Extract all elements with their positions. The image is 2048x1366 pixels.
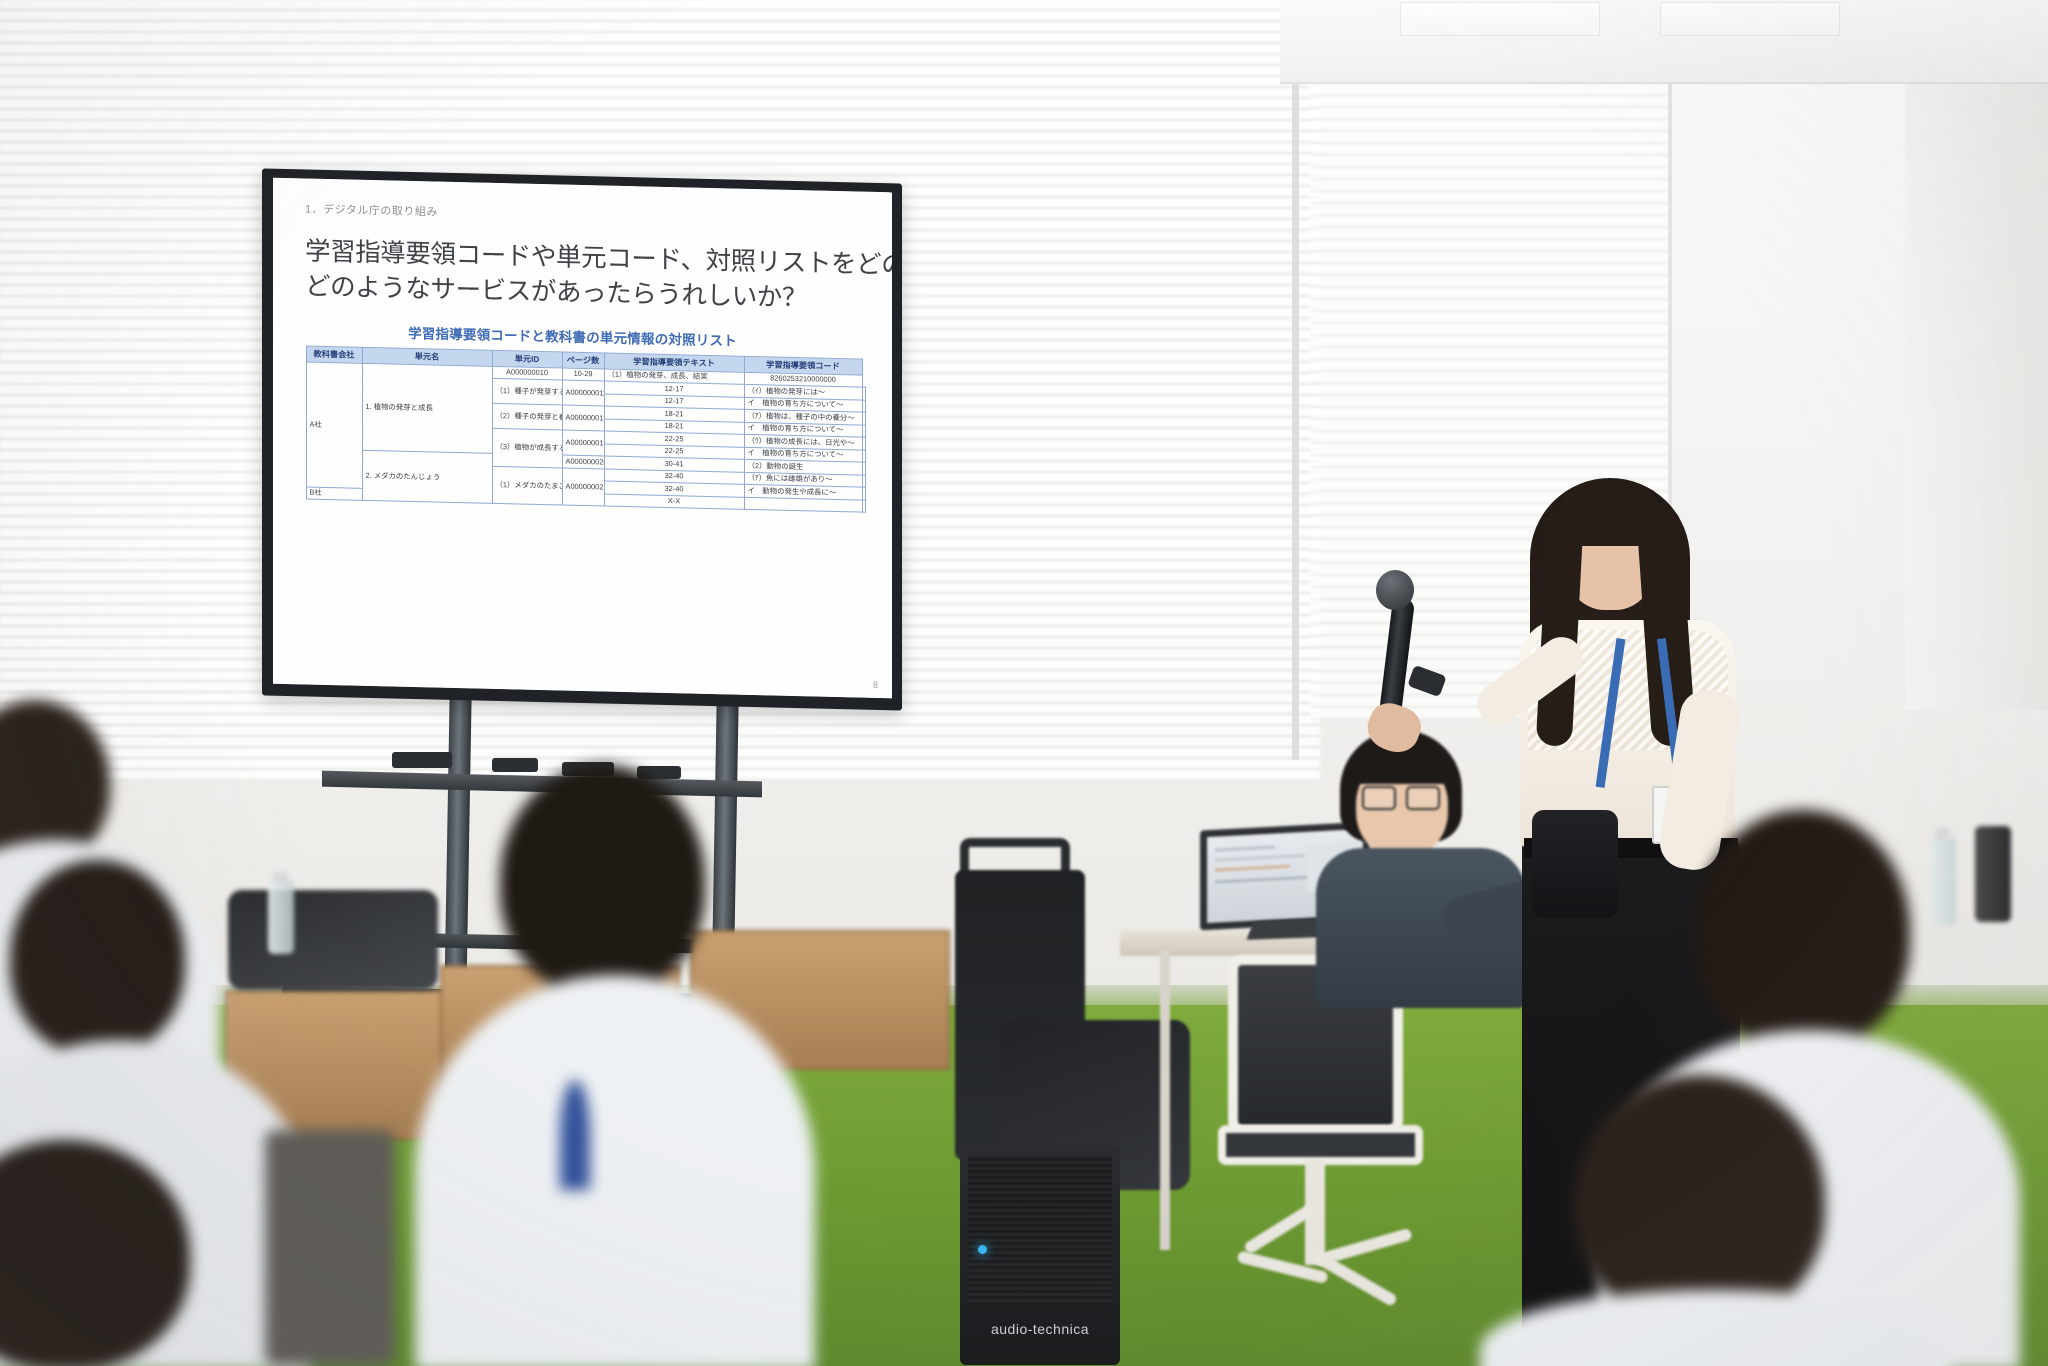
cell-pages: X-X — [604, 494, 744, 510]
display-screen[interactable]: 1．デジタル庁の取り組み 学習指導要領コードや単元コード、対照リストをどのように… — [273, 178, 892, 699]
bottle-cap-left — [274, 872, 288, 884]
slide-page-number: 8 — [873, 680, 878, 690]
thermos-tumbler — [1975, 826, 2011, 922]
cell-curriculum-text — [744, 497, 862, 512]
cell-unit-subname: （1）メダカのたまご — [492, 466, 562, 505]
cell-curriculum-code: 8260253211200000 — [862, 387, 865, 400]
cell-unit-subname: （3）植物が成長する条件 — [492, 429, 562, 468]
conference-room-scene: 1．デジタル庁の取り組み 学習指導要領コードや単元コード、対照リストをどのように… — [0, 0, 2048, 1366]
col-header-publisher: 教科書会社 — [306, 346, 362, 363]
ceiling-light-secondary — [1660, 2, 1840, 36]
operator-glasses-left-lens — [1362, 786, 1396, 810]
col-header-unit-id: 単元ID — [492, 351, 562, 368]
cell-curriculum-code: 8260253211300000 — [862, 437, 865, 450]
cell-publisher: B社 — [306, 487, 362, 501]
stand-equipment-box — [392, 752, 452, 768]
operator-glasses-right-lens — [1406, 786, 1440, 810]
cell-curriculum-code: 8260253212000000 — [862, 450, 865, 463]
cell-curriculum-code: … — [862, 500, 865, 513]
speaker-power-led — [978, 1245, 987, 1254]
slide-canvas: 1．デジタル庁の取り組み 学習指導要領コードや単元コード、対照リストをどのように… — [273, 178, 892, 699]
speaker-grill — [968, 1155, 1112, 1305]
cell-unit-id: A000000020 — [562, 455, 604, 469]
cell-curriculum-code: 8260253211100000 — [862, 412, 865, 425]
table-body: A社1. 植物の発芽と成長A00000001010-29（1）植物の発芽、成長、… — [306, 362, 865, 513]
cell-curriculum-code: 8260253222000000 — [862, 462, 865, 475]
col-header-pages: ページ数 — [562, 352, 604, 368]
water-bottle-right — [1930, 838, 1956, 926]
cell-unit-id: A000000012 — [562, 405, 604, 431]
cell-unit-id: A000000021 — [562, 468, 604, 507]
office-chair-seat — [1218, 1125, 1423, 1165]
cell-curriculum-code: 8260253222000000 — [862, 488, 865, 501]
equipment-bag-left — [228, 890, 438, 990]
bottle-cap-right — [1936, 828, 1950, 840]
cell-curriculum-code: 8260253221100000 — [862, 475, 865, 488]
cell-publisher: A社 — [306, 362, 362, 488]
desk-leg-left — [1160, 950, 1170, 1250]
stand-equipment-box-2 — [492, 758, 538, 772]
cell-unit-name: 1. 植物の発芽と成長 — [362, 363, 492, 454]
water-bottle-left — [268, 880, 294, 954]
display-bezel: 1．デジタル庁の取り組み 学習指導要領コードや単元コード、対照リストをどのように… — [262, 168, 902, 710]
cell-curriculum-code: 8260253212000000 — [862, 400, 865, 413]
window-frame — [1292, 0, 1299, 760]
cell-unit-subname: （1）種子が発芽する条件 — [492, 379, 562, 406]
cell-curriculum-code: 8260253212000000 — [862, 425, 865, 438]
cell-pages: 10-29 — [562, 368, 604, 382]
cell-unit-subname: （2）種子の発芽と養分 — [492, 404, 562, 431]
presentation-display-unit: 1．デジタル庁の取り組み 学習指導要領コードや単元コード、対照リストをどのように… — [262, 176, 902, 736]
comparison-table: 教科書会社 単元名 単元ID ページ数 学習指導要領テキスト 学習指導要領コード… — [306, 346, 866, 513]
cell-unit-id: A000000011 — [562, 380, 604, 406]
speaker-brand-label: audio-technica — [960, 1321, 1120, 1337]
ceiling-light — [1400, 2, 1600, 36]
cell-unit-name: 2. メダカのたんじょう — [362, 451, 492, 504]
pa-speaker: audio-technica — [960, 1145, 1120, 1365]
wall-pillar — [1905, 70, 2048, 710]
presenter-belt-pouch — [1532, 810, 1618, 918]
cell-unit-id: A000000013 — [562, 430, 604, 456]
slide-section-kicker: 1．デジタル庁の取り組み — [305, 200, 866, 229]
